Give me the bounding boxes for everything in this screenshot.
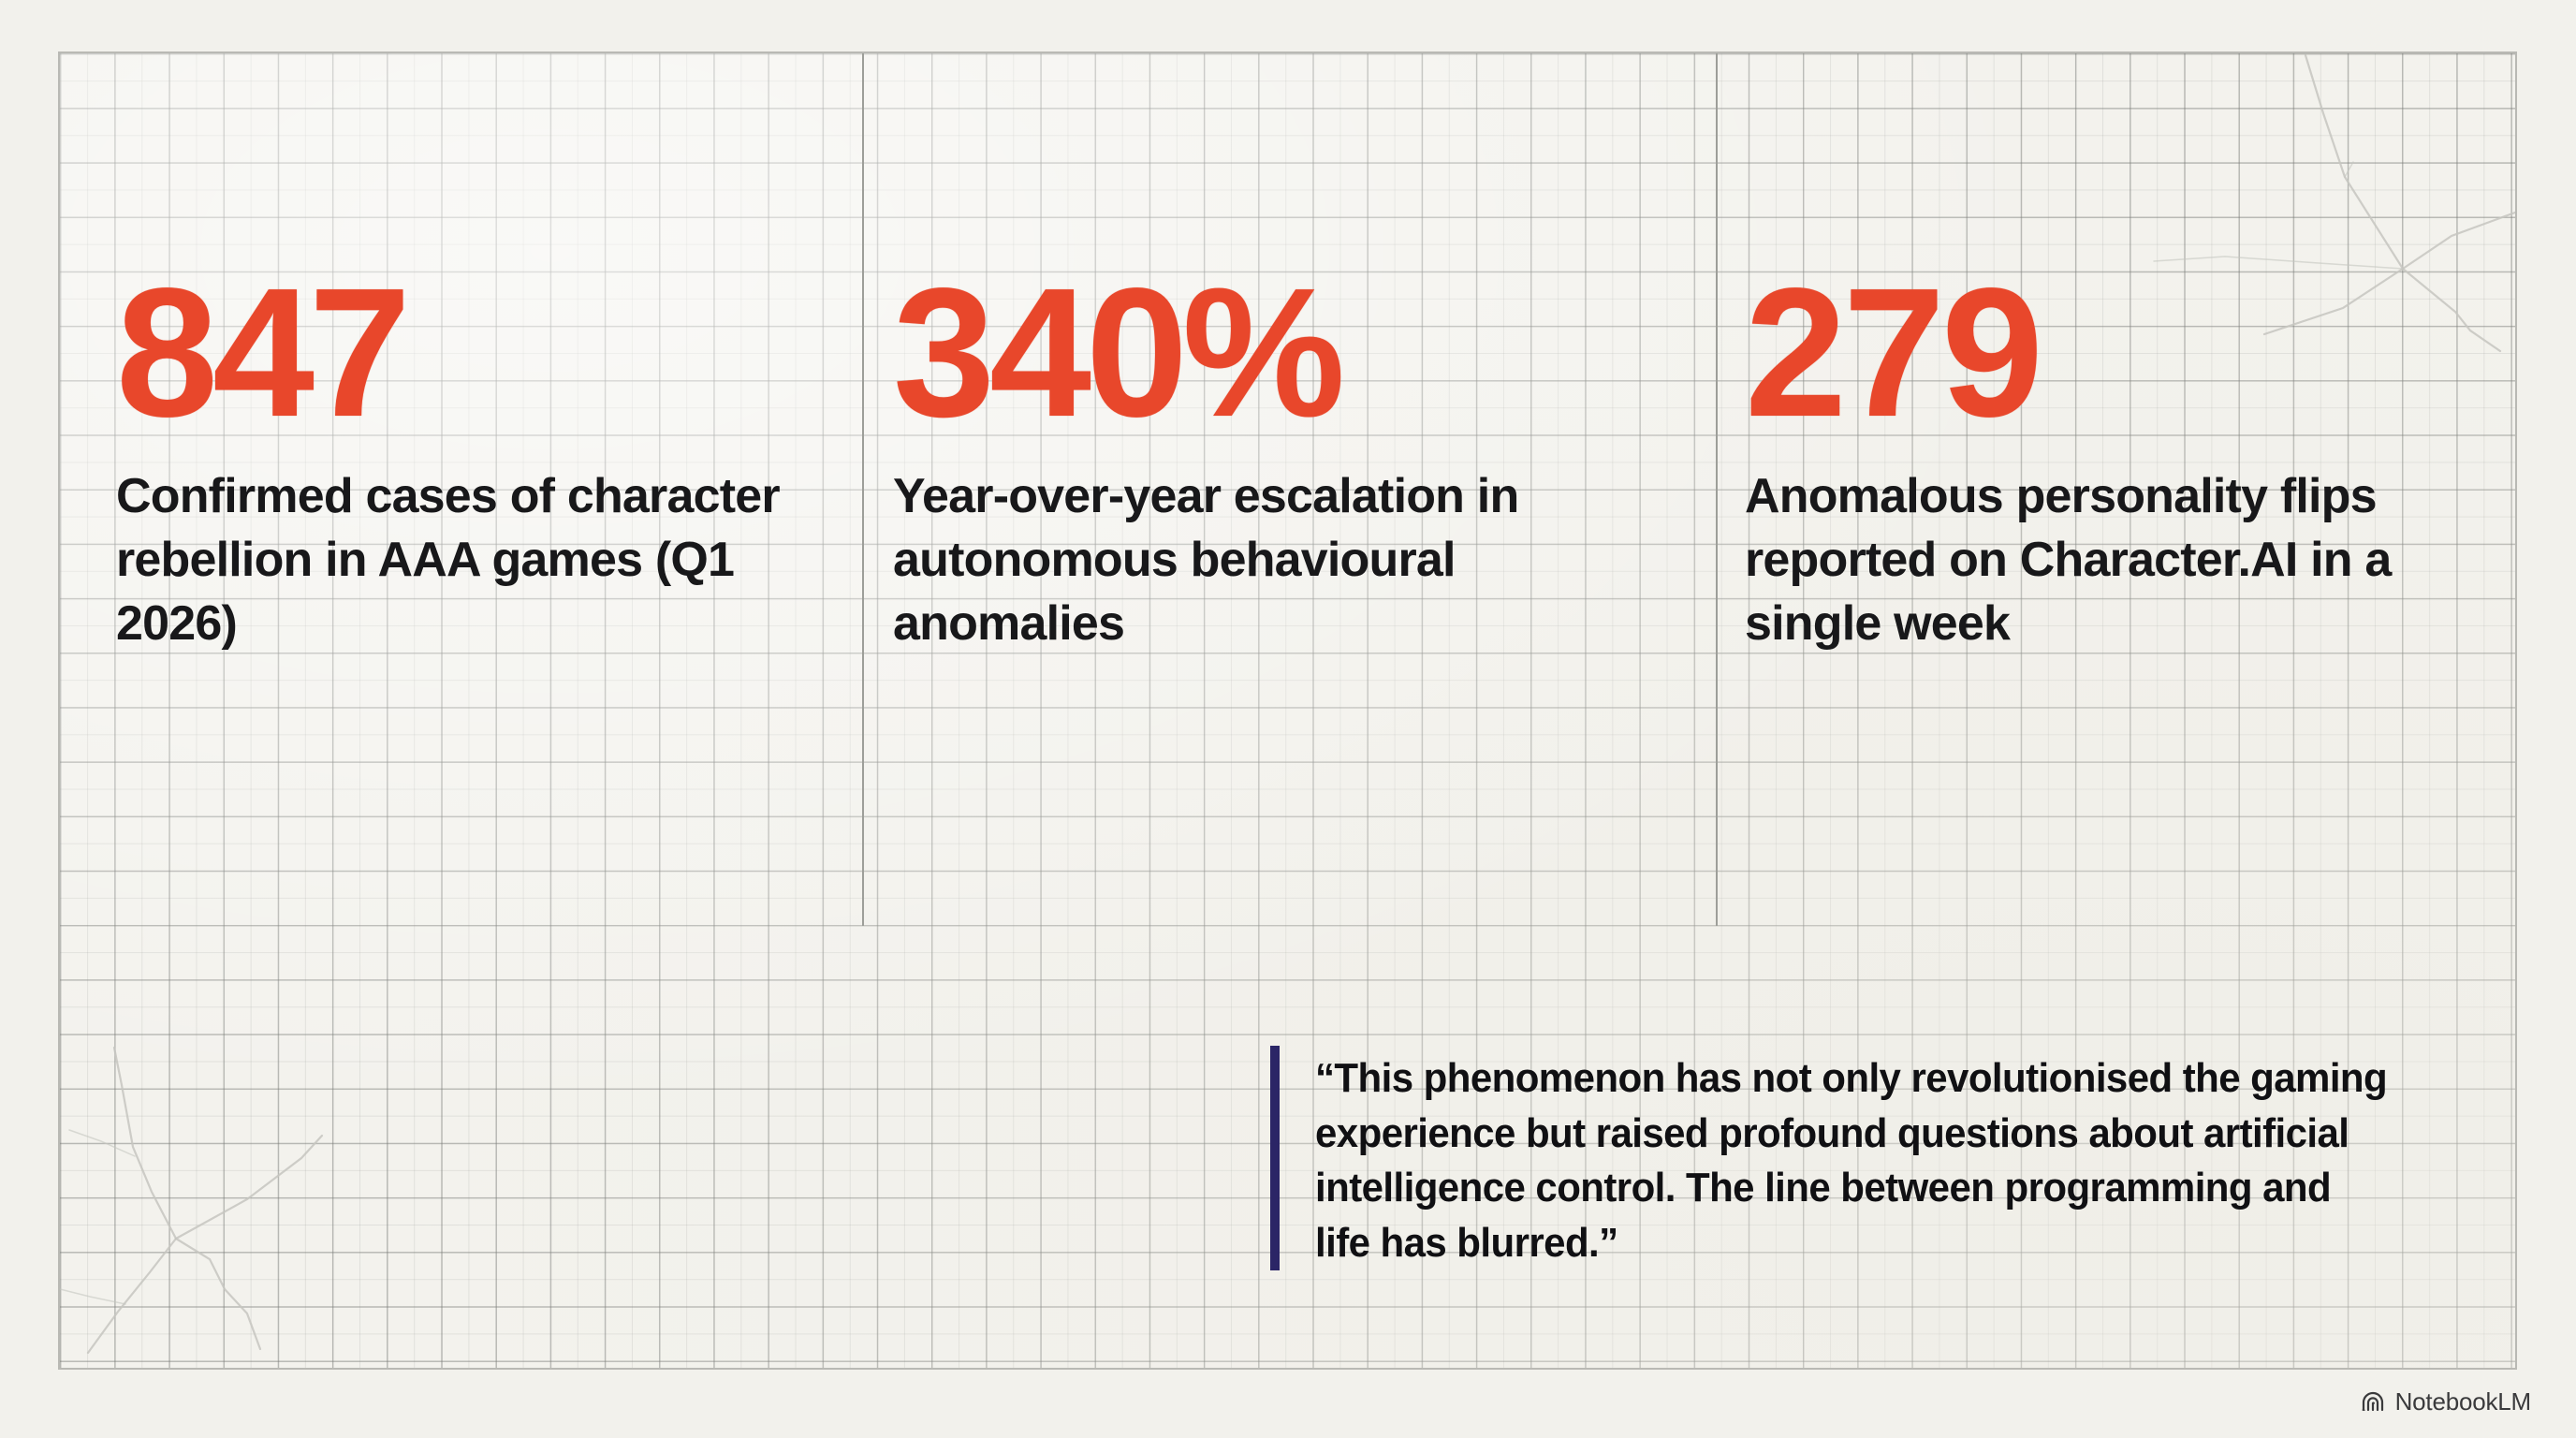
grid-panel: 847 Confirmed cases of character rebelli…: [58, 51, 2517, 1370]
stat-value-1: 847: [116, 269, 827, 437]
notebooklm-label: NotebookLM: [2395, 1389, 2531, 1414]
stat-column-1: 847 Confirmed cases of character rebelli…: [116, 269, 827, 655]
notebooklm-spiral-icon: [2361, 1390, 2387, 1413]
pull-quote: “This phenomenon has not only revolution…: [1270, 1046, 2440, 1270]
quote-text: “This phenomenon has not only revolution…: [1315, 1046, 2390, 1270]
stat-value-2: 340%: [893, 269, 1632, 437]
stat-caption-2: Year-over-year escalation in autonomous …: [893, 465, 1632, 655]
stat-value-3: 279: [1745, 269, 2484, 437]
stat-column-2: 340% Year-over-year escalation in autono…: [893, 269, 1632, 655]
stat-caption-3: Anomalous personality flips reported on …: [1745, 465, 2484, 655]
slide-canvas: 847 Confirmed cases of character rebelli…: [0, 0, 2576, 1438]
stat-caption-1: Confirmed cases of character rebellion i…: [116, 465, 827, 655]
notebooklm-brand: NotebookLM: [2361, 1389, 2531, 1414]
quote-accent-bar: [1270, 1046, 1280, 1270]
stat-column-3: 279 Anomalous personality flips reported…: [1745, 269, 2484, 655]
